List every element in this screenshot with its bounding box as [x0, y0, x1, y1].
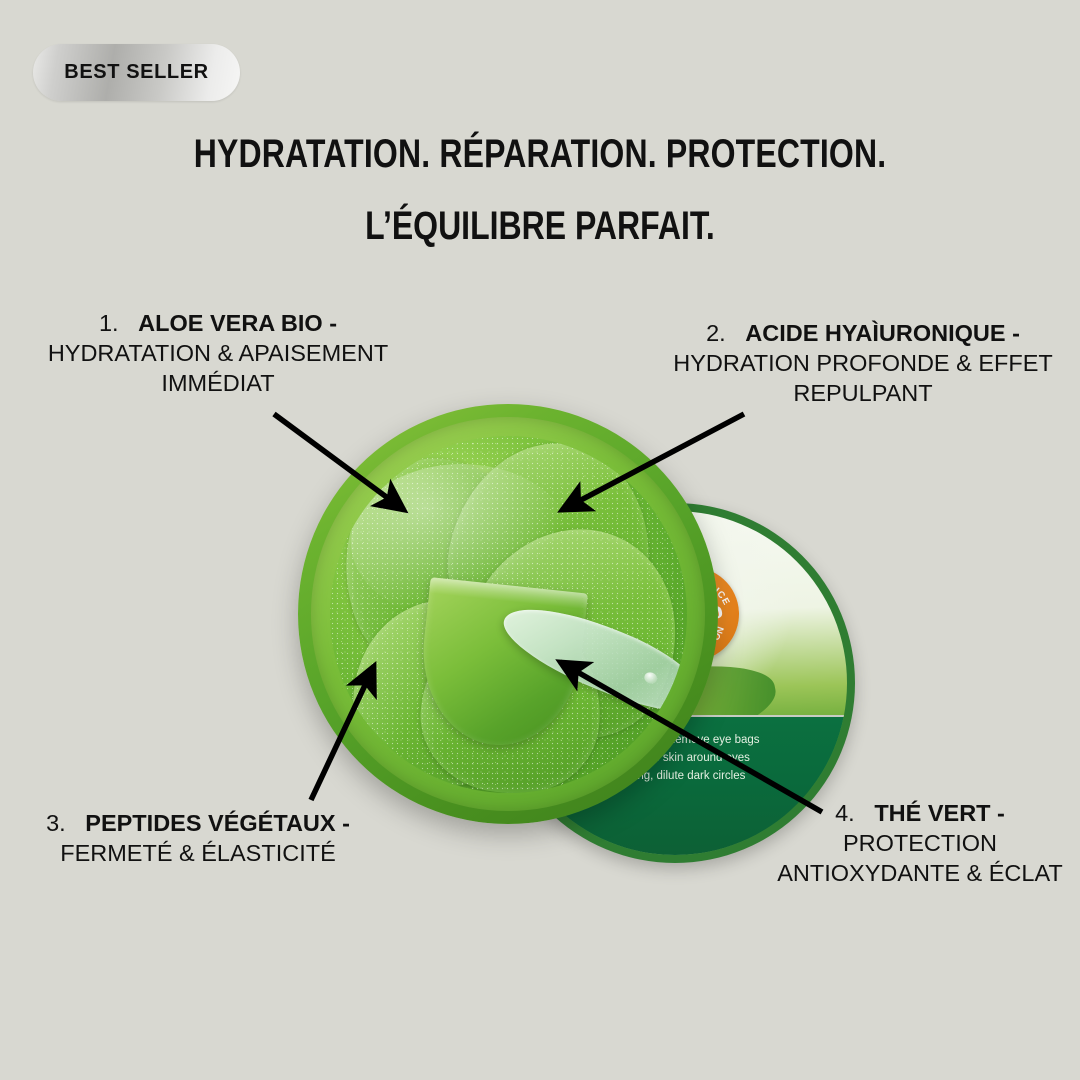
callout-description: FERMETÉ & ÉLASTICITÉ: [8, 838, 388, 868]
callout-arrows: [0, 0, 1080, 1080]
callout-title: THÉ VERT -: [874, 800, 1005, 826]
callout-number: 1.: [99, 310, 119, 336]
ingredient-callout-1: 1. ALOE VERA BIO - HYDRATATION & APAISEM…: [8, 308, 428, 398]
callout-title: ALOE VERA BIO -: [138, 310, 337, 336]
callout-description: PROTECTION ANTIOXYDANTE & ÉCLAT: [760, 828, 1080, 888]
arrow-to-ingredient-3: [311, 666, 374, 800]
ingredient-callout-2: 2. ACIDE HYAÌURONIQUE - HYDRATION PROFON…: [650, 318, 1076, 408]
ingredient-callout-4: 4. THÉ VERT - PROTECTION ANTIOXYDANTE & …: [760, 798, 1080, 888]
callout-description: HYDRATATION & APAISEMENT IMMÉDIAT: [8, 338, 428, 398]
arrow-to-ingredient-4: [560, 662, 822, 812]
callout-number: 4.: [835, 800, 855, 826]
arrow-to-ingredient-1: [274, 414, 404, 510]
callout-title: ACIDE HYAÌURONIQUE -: [745, 320, 1020, 346]
callout-number: 2.: [706, 320, 726, 346]
callout-title: PEPTIDES VÉGÉTAUX -: [85, 810, 350, 836]
infographic-canvas: BEST SELLER HYDRATATION. RÉPARATION. PRO…: [0, 0, 1080, 1080]
callout-number: 3.: [46, 810, 66, 836]
callout-description: HYDRATION PROFONDE & EFFET REPULPANT: [650, 348, 1076, 408]
arrow-to-ingredient-2: [562, 414, 744, 510]
ingredient-callout-3: 3. PEPTIDES VÉGÉTAUX - FERMETÉ & ÉLASTIC…: [8, 808, 388, 868]
